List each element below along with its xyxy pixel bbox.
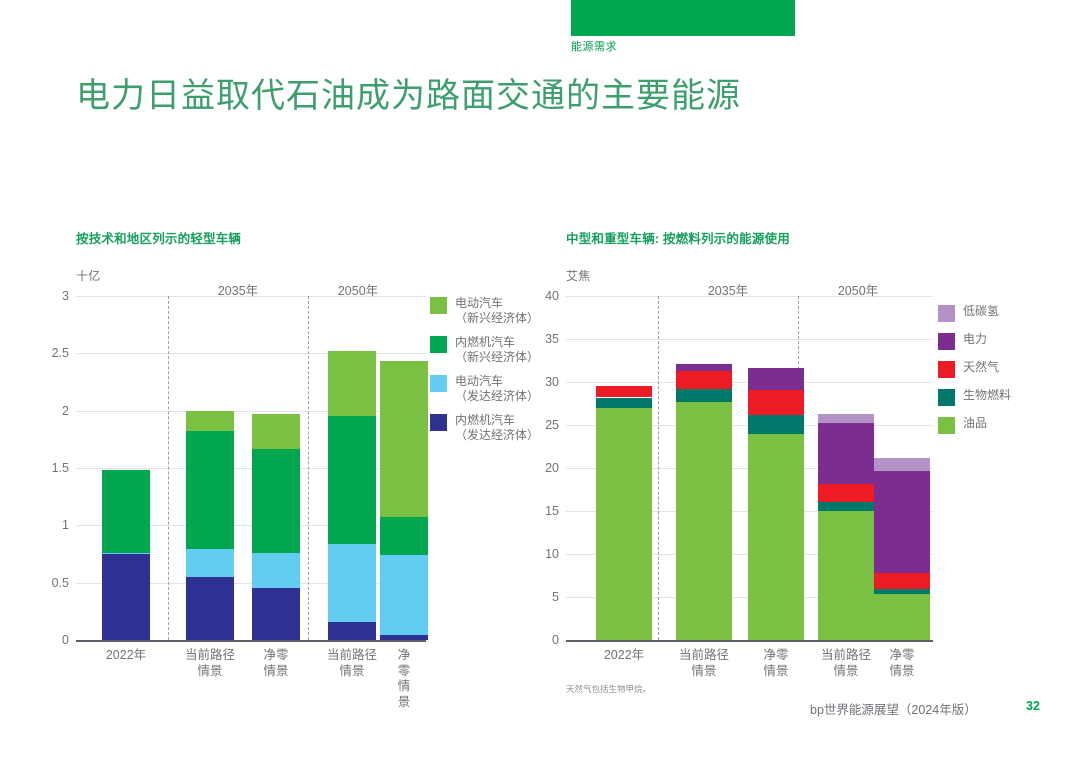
x-axis-tick-label: 净零 情景 xyxy=(393,648,415,711)
bar-segment[interactable] xyxy=(874,458,930,472)
bar-segment[interactable] xyxy=(328,416,376,544)
y-axis-tick-label: 10 xyxy=(545,547,559,561)
chart-footnote: 天然气包括生物甲烷。 xyxy=(566,683,651,695)
bar-segment[interactable] xyxy=(328,544,376,622)
legend-swatch-icon xyxy=(938,417,955,434)
left-chart-unit: 十亿 xyxy=(76,267,556,284)
bar-segment[interactable] xyxy=(252,588,300,640)
legend-swatch-icon xyxy=(938,361,955,378)
bar-segment[interactable] xyxy=(676,389,732,402)
bar-segment[interactable] xyxy=(186,549,234,577)
footer-source: bp世界能源展望（2024年版） xyxy=(810,699,977,718)
right-chart-plot: 05101520253035402035年2050年2022年当前路径 情景净零… xyxy=(566,296,933,640)
left-chart-legend: 电动汽车 （新兴经济体）内燃机汽车 （新兴经济体）电动汽车 （发达经济体）内燃机… xyxy=(430,296,539,452)
legend-swatch-icon xyxy=(938,305,955,322)
bar-segment[interactable] xyxy=(252,449,300,554)
page-number: 32 xyxy=(1026,699,1040,713)
bar-segment[interactable] xyxy=(818,511,874,640)
x-axis-tick-label: 净零 情景 xyxy=(763,648,788,679)
group-divider xyxy=(168,296,169,640)
legend-item-label: 电动汽车 （发达经济体） xyxy=(455,374,539,404)
bar-segment[interactable] xyxy=(380,361,428,517)
legend-item[interactable]: 低碳氢 xyxy=(938,304,1011,322)
left-chart-header: 按技术和地区列示的轻型车辆 十亿 xyxy=(76,228,556,284)
bar-segment[interactable] xyxy=(252,553,300,587)
x-axis-tick-label: 2022年 xyxy=(106,648,146,664)
legend-item-label: 电动汽车 （新兴经济体） xyxy=(455,296,539,326)
x-axis-tick-label: 当前路径 情景 xyxy=(821,648,871,679)
bar-segment[interactable] xyxy=(748,415,804,434)
y-axis-tick-label: 1.5 xyxy=(52,461,69,475)
bar-segment[interactable] xyxy=(186,577,234,640)
bar-segment[interactable] xyxy=(596,398,652,408)
bar-segment[interactable] xyxy=(596,408,652,640)
slide-page: 能源需求 电力日益取代石油成为路面交通的主要能源 按技术和地区列示的轻型车辆 十… xyxy=(0,0,1080,761)
y-axis-tick-label: 3 xyxy=(62,289,69,303)
legend-swatch-icon xyxy=(430,297,447,314)
bar-segment[interactable] xyxy=(818,414,874,423)
legend-item[interactable]: 生物燃料 xyxy=(938,388,1011,406)
left-chart-title: 按技术和地区列示的轻型车辆 xyxy=(76,228,556,247)
plot-area: 00.511.522.532035年2050年2022年当前路径 情景净零 情景… xyxy=(76,296,426,640)
left-chart-plot: 00.511.522.532035年2050年2022年当前路径 情景净零 情景… xyxy=(76,296,426,640)
bar-stack[interactable] xyxy=(818,296,874,640)
x-axis-tick-label: 净零 情景 xyxy=(889,648,914,679)
bar-segment[interactable] xyxy=(186,411,234,432)
bar-stack[interactable] xyxy=(748,296,804,640)
bar-segment[interactable] xyxy=(874,573,930,589)
bar-segment[interactable] xyxy=(328,351,376,416)
legend-item-label: 电力 xyxy=(963,332,987,347)
legend-item[interactable]: 内燃机汽车 （发达经济体） xyxy=(430,413,539,443)
bar-stack[interactable] xyxy=(596,296,652,640)
bar-stack[interactable] xyxy=(252,296,300,640)
bar-segment[interactable] xyxy=(380,635,428,640)
bar-segment[interactable] xyxy=(676,364,732,371)
legend-item[interactable]: 电力 xyxy=(938,332,1011,350)
legend-item-label: 低碳氢 xyxy=(963,304,999,319)
bar-segment[interactable] xyxy=(328,622,376,640)
y-axis-tick-label: 20 xyxy=(545,461,559,475)
y-axis-tick-label: 1 xyxy=(62,518,69,532)
plot-area: 05101520253035402035年2050年2022年当前路径 情景净零… xyxy=(566,296,933,640)
bar-segment[interactable] xyxy=(676,371,732,389)
legend-item-label: 天然气 xyxy=(963,360,999,375)
y-axis-tick-label: 15 xyxy=(545,504,559,518)
bar-segment[interactable] xyxy=(818,423,874,484)
bar-segment[interactable] xyxy=(818,502,874,511)
section-kicker: 能源需求 xyxy=(571,38,617,54)
bar-segment[interactable] xyxy=(102,554,150,640)
y-axis-tick-label: 0.5 xyxy=(52,576,69,590)
legend-swatch-icon xyxy=(430,336,447,353)
legend-item[interactable]: 天然气 xyxy=(938,360,1011,378)
right-chart-unit: 艾焦 xyxy=(566,267,1066,284)
axis-baseline xyxy=(76,640,426,642)
right-chart-legend: 低碳氢电力天然气生物燃料油品 xyxy=(938,304,1011,444)
bar-segment[interactable] xyxy=(874,471,930,572)
x-axis-tick-label: 当前路径 情景 xyxy=(185,648,235,679)
bar-segment[interactable] xyxy=(748,434,804,640)
legend-item[interactable]: 油品 xyxy=(938,416,1011,434)
y-axis-tick-label: 5 xyxy=(552,590,559,604)
y-axis-tick-label: 35 xyxy=(545,332,559,346)
legend-item[interactable]: 电动汽车 （新兴经济体） xyxy=(430,296,539,326)
bar-segment[interactable] xyxy=(102,553,150,554)
bar-stack[interactable] xyxy=(102,296,150,640)
right-chart-title: 中型和重型车辆: 按燃料列示的能源使用 xyxy=(566,228,1066,247)
axis-baseline xyxy=(566,640,933,642)
y-axis-tick-label: 0 xyxy=(62,633,69,647)
legend-item-label: 油品 xyxy=(963,416,987,431)
group-divider xyxy=(658,296,659,640)
legend-item-label: 内燃机汽车 （发达经济体） xyxy=(455,413,539,443)
bar-stack[interactable] xyxy=(676,296,732,640)
x-axis-tick-label: 2022年 xyxy=(604,648,644,664)
bar-segment[interactable] xyxy=(748,390,804,415)
legend-item[interactable]: 电动汽车 （发达经济体） xyxy=(430,374,539,404)
bar-segment[interactable] xyxy=(102,470,150,553)
page-title: 电力日益取代石油成为路面交通的主要能源 xyxy=(76,68,741,117)
bar-segment[interactable] xyxy=(748,368,804,390)
legend-swatch-icon xyxy=(430,375,447,392)
bar-segment[interactable] xyxy=(596,386,652,397)
right-chart-header: 中型和重型车辆: 按燃料列示的能源使用 艾焦 xyxy=(566,228,1066,284)
y-axis-tick-label: 0 xyxy=(552,633,559,647)
legend-item-label: 内燃机汽车 （新兴经济体） xyxy=(455,335,539,365)
legend-swatch-icon xyxy=(430,414,447,431)
bar-segment[interactable] xyxy=(874,589,930,594)
bar-segment[interactable] xyxy=(874,594,930,640)
x-axis-tick-label: 当前路径 情景 xyxy=(679,648,729,679)
bar-stack[interactable] xyxy=(328,296,376,640)
bar-segment[interactable] xyxy=(380,517,428,554)
bar-segment[interactable] xyxy=(186,431,234,549)
y-axis-tick-label: 2.5 xyxy=(52,346,69,360)
legend-item[interactable]: 内燃机汽车 （新兴经济体） xyxy=(430,335,539,365)
y-axis-tick-label: 40 xyxy=(545,289,559,303)
legend-item-label: 生物燃料 xyxy=(963,388,1011,403)
group-divider xyxy=(308,296,309,640)
bar-stack[interactable] xyxy=(186,296,234,640)
bar-segment[interactable] xyxy=(252,414,300,448)
legend-swatch-icon xyxy=(938,389,955,406)
header-accent-bar xyxy=(571,0,795,36)
bar-segment[interactable] xyxy=(676,402,732,640)
x-axis-tick-label: 当前路径 情景 xyxy=(327,648,377,679)
bar-segment[interactable] xyxy=(380,555,428,635)
bar-stack[interactable] xyxy=(380,296,428,640)
x-axis-tick-label: 净零 情景 xyxy=(263,648,288,679)
legend-swatch-icon xyxy=(938,333,955,350)
y-axis-tick-label: 30 xyxy=(545,375,559,389)
bar-stack[interactable] xyxy=(874,296,930,640)
bar-segment[interactable] xyxy=(818,484,874,501)
y-axis-tick-label: 2 xyxy=(62,404,69,418)
y-axis-tick-label: 25 xyxy=(545,418,559,432)
